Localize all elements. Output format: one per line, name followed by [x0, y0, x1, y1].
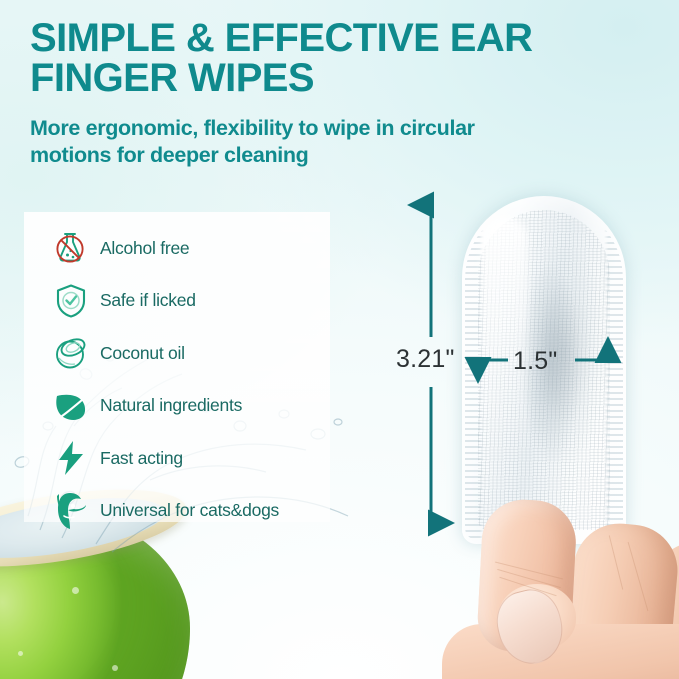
- feature-label: Safe if licked: [94, 290, 196, 311]
- feature-list: Alcohol free Safe if licked: [48, 222, 348, 537]
- cat-dog-head-icon: [48, 491, 94, 531]
- dimension-label-height: 3.21": [396, 345, 455, 374]
- feature-label: Fast acting: [94, 448, 183, 469]
- feature-item-universal-cats-dogs: Universal for cats&dogs: [48, 485, 348, 538]
- subtitle-line-1: More ergonomic, flexibility to wipe in c…: [30, 115, 630, 142]
- no-alcohol-flask-icon: [48, 228, 94, 268]
- page-subtitle: More ergonomic, flexibility to wipe in c…: [30, 115, 630, 169]
- product-marketing-image: SIMPLE & EFFECTIVE EAR FINGER WIPES More…: [0, 0, 679, 679]
- lightning-bolt-icon: [48, 438, 94, 478]
- feature-item-safe-if-licked: Safe if licked: [48, 275, 348, 328]
- coconut-icon: [48, 333, 94, 373]
- shield-check-icon: [48, 281, 94, 321]
- heading-block: SIMPLE & EFFECTIVE EAR FINGER WIPES More…: [30, 18, 630, 169]
- feature-item-alcohol-free: Alcohol free: [48, 222, 348, 275]
- page-title: SIMPLE & EFFECTIVE EAR FINGER WIPES: [30, 18, 630, 98]
- title-line-2: FINGER WIPES: [30, 58, 630, 98]
- finger-wipe-highlight: [482, 216, 528, 466]
- dimension-label-width: 1.5": [513, 347, 557, 376]
- feature-label: Alcohol free: [94, 238, 189, 259]
- hand-photo: [402, 506, 679, 679]
- title-line-1: SIMPLE & EFFECTIVE EAR: [30, 18, 630, 58]
- leaf-icon: [48, 386, 94, 426]
- subtitle-line-2: motions for deeper cleaning: [30, 142, 630, 169]
- feature-label: Universal for cats&dogs: [94, 500, 279, 521]
- feature-item-fast-acting: Fast acting: [48, 432, 348, 485]
- feature-label: Coconut oil: [94, 343, 185, 364]
- feature-label: Natural ingredients: [94, 395, 242, 416]
- feature-item-coconut-oil: Coconut oil: [48, 327, 348, 380]
- feature-item-natural-ingredients: Natural ingredients: [48, 380, 348, 433]
